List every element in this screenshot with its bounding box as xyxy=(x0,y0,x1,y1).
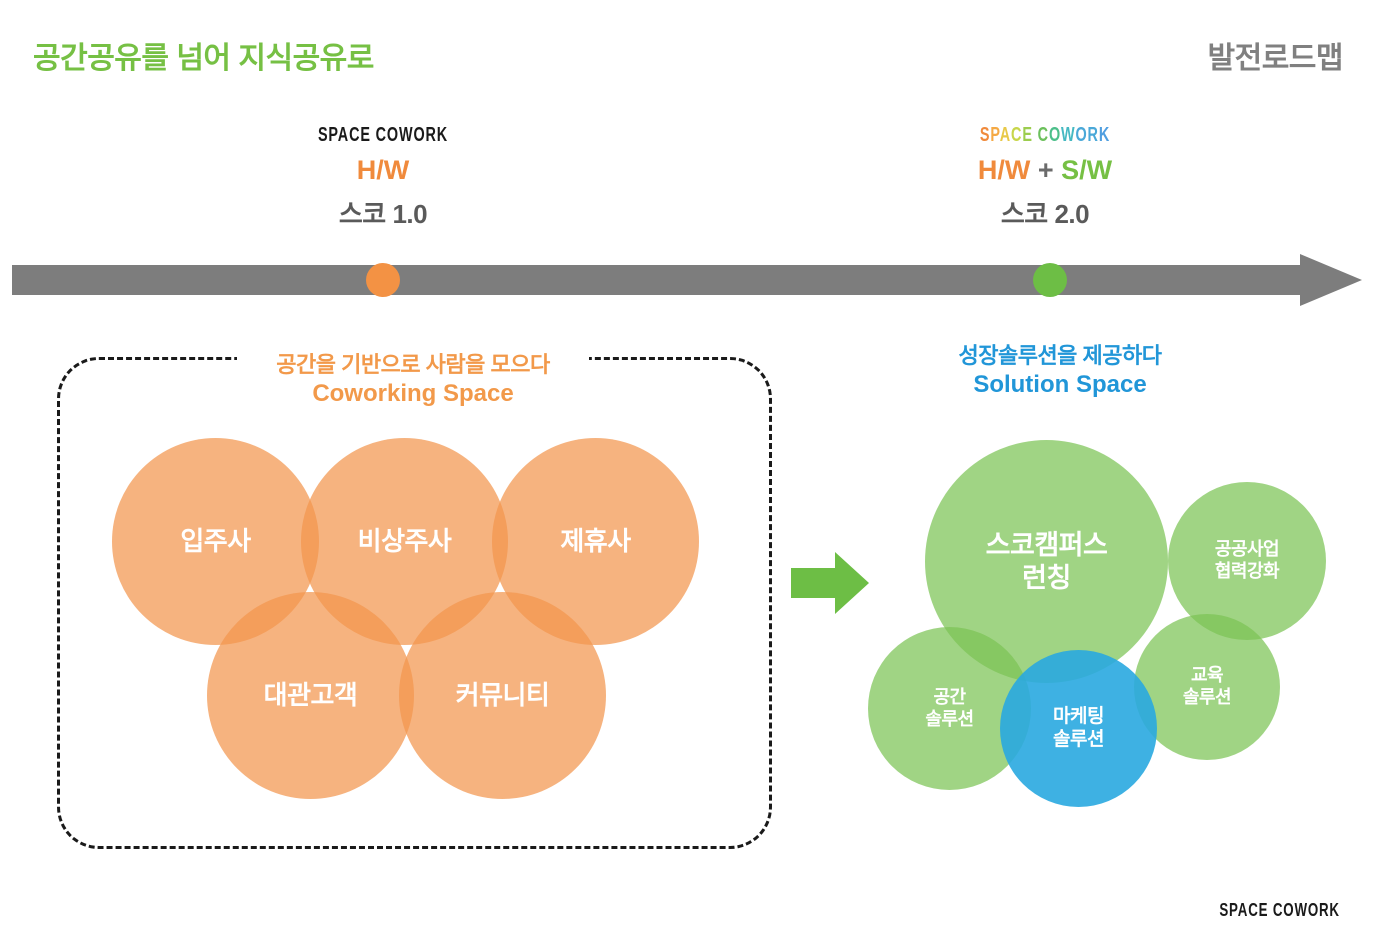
milestone-1-stage: H/W xyxy=(233,156,533,186)
milestone-1-version: 스코 1.0 xyxy=(233,194,533,231)
circle-left-4-label: 대관고객 xyxy=(264,680,358,711)
timeline-arrowhead-icon xyxy=(1300,254,1362,306)
roadmap-slide: 공간공유를 넘어 지식공유로 발전로드맵 SPACE COWORK H/W 스코… xyxy=(0,0,1376,937)
timeline-dot-1[interactable] xyxy=(366,263,400,297)
circle-right-5-label: 마케팅솔루션 xyxy=(1053,706,1104,752)
circle-left-3-label: 제휴사 xyxy=(560,526,630,557)
caption-left: 공간을 기반으로 사람을 모으다 Coworking Space xyxy=(233,352,593,408)
arrow-right-icon xyxy=(791,552,869,614)
circle-right-1-label: 스코캠퍼스런칭 xyxy=(986,529,1108,594)
circle-right-4-label: 교육솔루션 xyxy=(1183,665,1231,708)
space-cowork-logo-mono: SPACE COWORK xyxy=(275,124,491,146)
footer-logo: SPACE COWORK xyxy=(1219,900,1340,921)
timeline-bar xyxy=(12,265,1302,295)
circle-left-5[interactable]: 커뮤니티 xyxy=(399,592,606,799)
caption-right: 성장솔루션을 제공하다 Solution Space xyxy=(880,343,1240,399)
caption-right-en: Solution Space xyxy=(880,370,1240,399)
milestone-2-stage-plus: + xyxy=(1038,155,1054,185)
page-title: 공간공유를 넘어 지식공유로 xyxy=(33,33,374,77)
milestone-2-stage-sw: S/W xyxy=(1061,155,1112,185)
circle-right-5[interactable]: 마케팅솔루션 xyxy=(1000,650,1157,807)
caption-left-ko: 공간을 기반으로 사람을 모으다 xyxy=(233,352,593,379)
milestone-1: SPACE COWORK H/W 스코 1.0 xyxy=(233,124,533,231)
timeline-dot-2[interactable] xyxy=(1033,263,1067,297)
milestone-2-version: 스코 2.0 xyxy=(895,194,1195,231)
circle-left-1-label: 입주사 xyxy=(180,526,250,557)
caption-left-en: Coworking Space xyxy=(233,379,593,408)
caption-right-ko: 성장솔루션을 제공하다 xyxy=(880,343,1240,370)
milestone-2-stage-hw: H/W xyxy=(978,155,1030,185)
page-subtitle-right: 발전로드맵 xyxy=(1208,33,1344,77)
circle-right-3-label: 공간솔루션 xyxy=(925,687,973,730)
milestone-2: SPACE COWORK H/W + S/W 스코 2.0 xyxy=(895,124,1195,231)
space-cowork-logo-color: SPACE COWORK xyxy=(937,124,1153,146)
circle-left-4[interactable]: 대관고객 xyxy=(207,592,414,799)
circle-right-1[interactable]: 스코캠퍼스런칭 xyxy=(925,440,1168,683)
circle-left-2-label: 비상주사 xyxy=(358,526,452,557)
circle-right-2-label: 공공사업협력강화 xyxy=(1215,539,1279,582)
milestone-2-stage: H/W + S/W xyxy=(895,156,1195,186)
circle-left-5-label: 커뮤니티 xyxy=(456,680,550,711)
